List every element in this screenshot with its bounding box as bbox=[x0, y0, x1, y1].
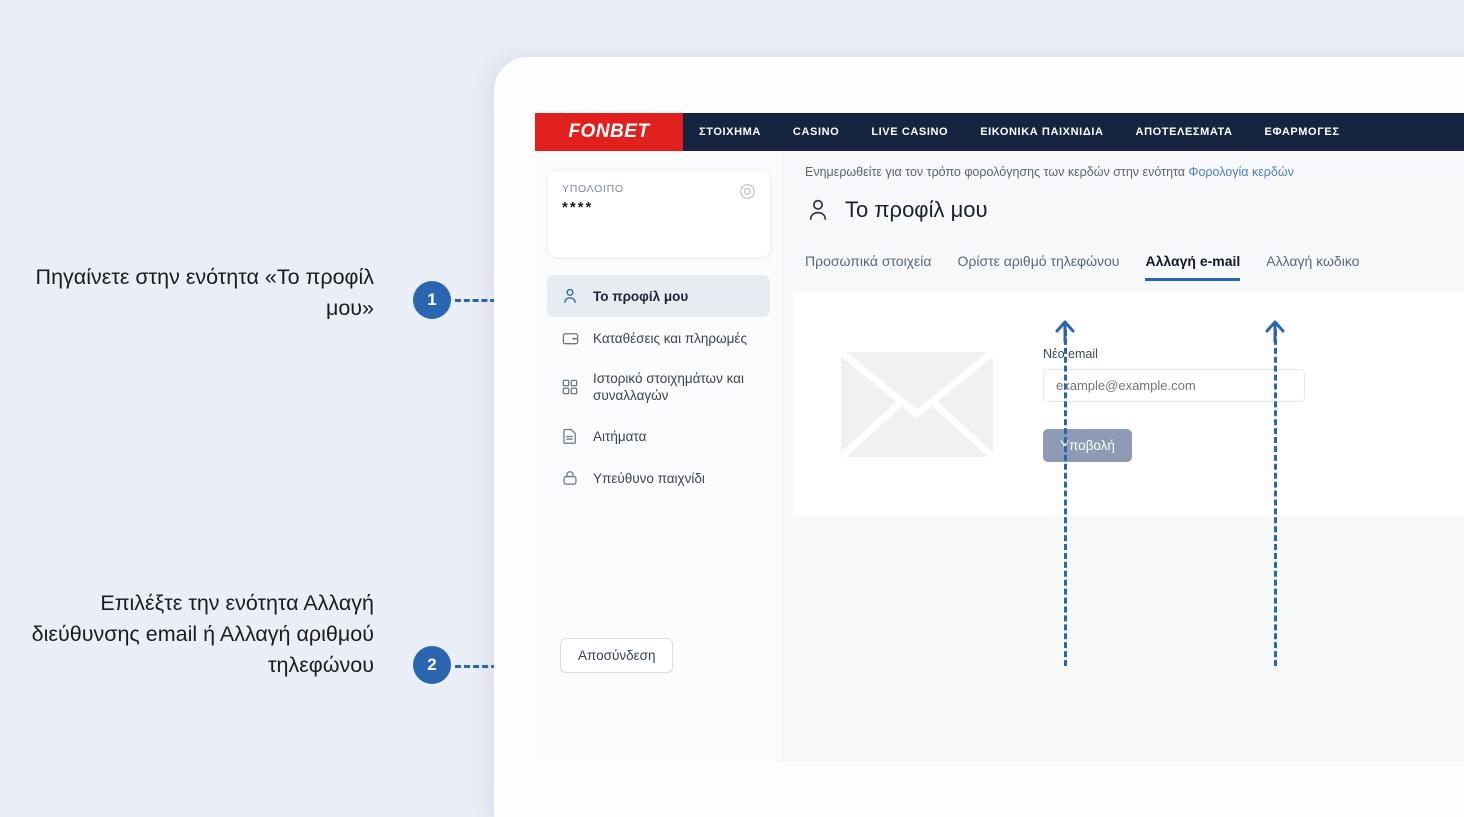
lock-icon bbox=[560, 468, 580, 488]
sidebar-item-label: Υπεύθυνο παιχνίδι bbox=[593, 470, 705, 487]
fonbet-logo[interactable]: FONBET bbox=[535, 113, 683, 151]
arrow-up-icon bbox=[1050, 320, 1080, 344]
change-email-card: Νέο email Υποβολή bbox=[793, 293, 1464, 515]
page-title: Το προφίλ μου bbox=[783, 179, 1464, 223]
sidebar-menu: Το προφίλ μου Καταθέσεις και πληρωμές bbox=[535, 275, 782, 499]
arrow-up-icon bbox=[1260, 320, 1290, 344]
document-icon bbox=[560, 426, 580, 446]
sidebar-item-label: Καταθέσεις και πληρωμές bbox=[593, 330, 747, 347]
tax-notice-text: Ενημερωθείτε για τον τρόπο φορολόγησης τ… bbox=[805, 165, 1188, 179]
connector-vertical-left bbox=[1064, 330, 1067, 666]
nav-item-stoixima[interactable]: ΣΤΟΙΧΗΜΑ bbox=[683, 113, 777, 151]
tab-change-email[interactable]: Αλλαγή e-mail bbox=[1145, 253, 1240, 281]
sidebar-item-deposits[interactable]: Καταθέσεις και πληρωμές bbox=[547, 317, 770, 359]
logout-button[interactable]: Αποσύνδεση bbox=[560, 638, 673, 673]
nav-item-casino[interactable]: CASINO bbox=[777, 113, 855, 151]
balance-label: ΥΠΟΛΟΙΠΟ bbox=[562, 183, 756, 195]
eye-icon[interactable] bbox=[739, 183, 756, 200]
connector-vertical-right bbox=[1274, 330, 1277, 666]
envelope-icon bbox=[841, 352, 993, 457]
tax-notice: Ενημερωθείτε για τον τρόπο φορολόγησης τ… bbox=[783, 151, 1464, 179]
sidebar-item-requests[interactable]: Αιτήματα bbox=[547, 415, 770, 457]
top-navigation: FONBET ΣΤΟΙΧΗΜΑ CASINO LIVE CASINO ΕΙΚΟΝ… bbox=[535, 113, 1464, 151]
main-content: Ενημερωθείτε για τον τρόπο φορολόγησης τ… bbox=[783, 151, 1464, 762]
sidebar-item-label: Αιτήματα bbox=[593, 428, 646, 445]
tab-change-password[interactable]: Αλλαγή κωδικο bbox=[1266, 253, 1359, 281]
nav-item-live-casino[interactable]: LIVE CASINO bbox=[855, 113, 964, 151]
new-email-input[interactable] bbox=[1043, 369, 1305, 402]
page-title-label: Το προφίλ μου bbox=[845, 197, 988, 223]
envelope-flap bbox=[841, 352, 993, 457]
page-body: ΥΠΟΛΟΙΠΟ **** Το προφίλ μο bbox=[535, 151, 1464, 762]
annotation-step-2: Επιλέξτε την ενότητα Αλλαγή διεύθυνσης e… bbox=[14, 588, 374, 681]
tab-personal-details[interactable]: Προσωπικά στοιχεία bbox=[805, 253, 931, 281]
change-email-form: Νέο email Υποβολή bbox=[1043, 347, 1305, 462]
person-icon bbox=[805, 197, 831, 223]
submit-button[interactable]: Υποβολή bbox=[1043, 429, 1132, 462]
browser-screen: FONBET ΣΤΟΙΧΗΜΑ CASINO LIVE CASINO ΕΙΚΟΝ… bbox=[535, 113, 1464, 762]
sidebar-item-label: Ιστορικό στοιχημάτων και συναλλαγών bbox=[593, 370, 757, 404]
wallet-icon bbox=[560, 328, 580, 348]
nav-item-virtual-games[interactable]: ΕΙΚΟΝΙΚΑ ΠΑΙΧΝΙΔΙΑ bbox=[964, 113, 1119, 151]
nav-item-results[interactable]: ΑΠΟΤΕΛΕΣΜΑΤΑ bbox=[1120, 113, 1249, 151]
person-icon bbox=[560, 286, 580, 306]
sidebar-item-label: Το προφίλ μου bbox=[593, 288, 688, 305]
tax-notice-link[interactable]: Φορολογία κερδών bbox=[1188, 165, 1293, 179]
balance-card[interactable]: ΥΠΟΛΟΙΠΟ **** bbox=[548, 171, 770, 257]
step-badge-1: 1 bbox=[413, 281, 451, 319]
new-email-label: Νέο email bbox=[1043, 347, 1305, 361]
sidebar-item-history[interactable]: Ιστορικό στοιχημάτων και συναλλαγών bbox=[547, 359, 770, 415]
annotation-step-1: Πηγαίνετε στην ενότητα «Το προφίλ μου» bbox=[14, 262, 374, 324]
step-badge-2: 2 bbox=[413, 646, 451, 684]
page-root: Πηγαίνετε στην ενότητα «Το προφίλ μου» 1… bbox=[0, 0, 1464, 800]
sidebar: ΥΠΟΛΟΙΠΟ **** Το προφίλ μο bbox=[535, 151, 783, 762]
sidebar-item-profile[interactable]: Το προφίλ μου bbox=[547, 275, 770, 317]
nav-item-apps[interactable]: ΕΦΑΡΜΟΓΕΣ bbox=[1249, 113, 1356, 151]
profile-tabs: Προσωπικά στοιχεία Ορίστε αριθμό τηλεφών… bbox=[783, 223, 1464, 281]
sidebar-item-responsible-gaming[interactable]: Υπεύθυνο παιχνίδι bbox=[547, 457, 770, 499]
tab-set-phone-number[interactable]: Ορίστε αριθμό τηλεφώνου bbox=[957, 253, 1119, 281]
grid-icon bbox=[560, 377, 580, 397]
balance-value: **** bbox=[562, 199, 756, 216]
